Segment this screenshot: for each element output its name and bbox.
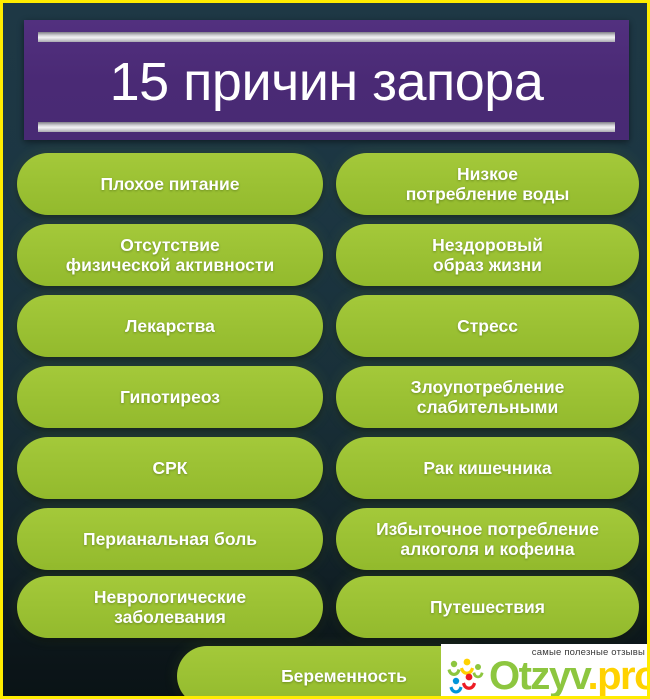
- cause-pill-9[interactable]: СРК: [17, 437, 323, 499]
- cause-label-11: Перианальная боль: [83, 529, 257, 549]
- site-logo[interactable]: самые полезные отзывы Otzyv.pro: [441, 644, 650, 699]
- cause-pill-11[interactable]: Перианальная боль: [17, 508, 323, 570]
- cause-pill-7[interactable]: Гипотиреоз: [17, 366, 323, 428]
- infographic-poster: 15 причин запора Плохое питание Низкоепо…: [0, 0, 650, 699]
- cause-label-1: Плохое питание: [101, 174, 240, 194]
- banner-bar-top: [38, 32, 615, 42]
- cause-label-15: Беременность: [281, 666, 407, 686]
- title-banner: 15 причин запора: [24, 20, 629, 140]
- logo-name-primary: Otzyv: [489, 654, 587, 698]
- cause-label-3: Отсутствиефизической активности: [66, 235, 274, 275]
- cause-pill-2[interactable]: Низкоепотребление воды: [336, 153, 639, 215]
- cause-pill-5[interactable]: Лекарства: [17, 295, 323, 357]
- cause-label-2: Низкоепотребление воды: [406, 164, 570, 204]
- cause-label-13: Неврологическиезаболевания: [94, 587, 246, 627]
- cause-pill-10[interactable]: Рак кишечника: [336, 437, 639, 499]
- cause-pill-3[interactable]: Отсутствиефизической активности: [17, 224, 323, 286]
- cause-pill-14[interactable]: Путешествия: [336, 576, 639, 638]
- banner-bar-bottom: [38, 122, 615, 132]
- cause-label-6: Стресс: [457, 316, 518, 336]
- cause-label-5: Лекарства: [125, 316, 215, 336]
- cause-label-14: Путешествия: [430, 597, 545, 617]
- cause-pill-12[interactable]: Избыточное потреблениеалкоголя и кофеина: [336, 508, 639, 570]
- logo-wordmark: Otzyv.pro: [489, 655, 650, 697]
- cause-label-10: Рак кишечника: [423, 458, 551, 478]
- cause-pill-13[interactable]: Неврологическиезаболевания: [17, 576, 323, 638]
- cause-label-4: Нездоровыйобраз жизни: [432, 235, 543, 275]
- cause-pill-1[interactable]: Плохое питание: [17, 153, 323, 215]
- logo-name-suffix: .pro: [587, 654, 650, 698]
- people-group-icon: [445, 658, 487, 696]
- cause-pill-6[interactable]: Стресс: [336, 295, 639, 357]
- cause-label-7: Гипотиреоз: [120, 387, 220, 407]
- cause-label-12: Избыточное потреблениеалкоголя и кофеина: [376, 519, 599, 559]
- cause-pill-4[interactable]: Нездоровыйобраз жизни: [336, 224, 639, 286]
- cause-label-8: Злоупотреблениеслабительными: [411, 377, 565, 417]
- cause-label-9: СРК: [153, 458, 188, 478]
- page-title: 15 причин запора: [24, 46, 629, 118]
- cause-pill-8[interactable]: Злоупотреблениеслабительными: [336, 366, 639, 428]
